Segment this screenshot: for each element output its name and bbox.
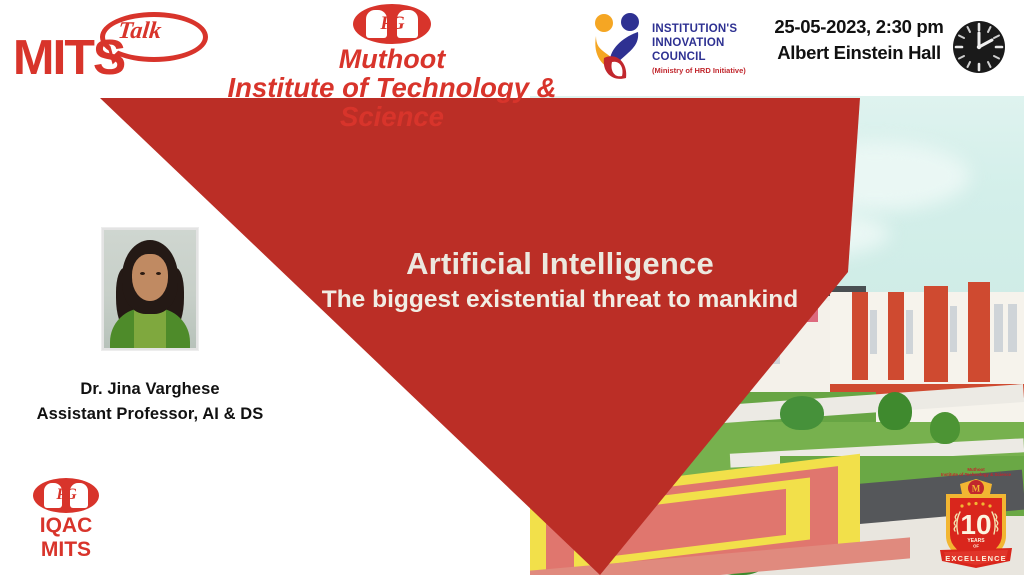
portrait-eye-right (156, 272, 161, 275)
window (656, 314, 682, 332)
speaker-designation: Assistant Professor, AI & DS (0, 405, 300, 424)
window (870, 310, 877, 354)
building-accent (968, 282, 990, 382)
svg-text:M: M (972, 484, 981, 494)
iic-line-2: INNOVATION (652, 36, 750, 50)
page-subtitle: The biggest existential threat to mankin… (300, 285, 820, 314)
svg-text:OF: OF (973, 544, 979, 549)
svg-text:10: 10 (960, 509, 991, 540)
iqac-pg-monogram-icon: PG (33, 478, 99, 513)
window (950, 306, 957, 352)
window (994, 304, 1003, 352)
presentation-poster: MITS Talk PG Muthoot Institute of Techno… (0, 0, 1024, 575)
talk-title-block: Artificial Intelligence The biggest exis… (300, 246, 820, 314)
ten-years-excellence-shield-icon: Muthoot Institute of Technology & Scienc… (930, 462, 1022, 572)
event-venue: Albert Einstein Hall (770, 40, 948, 66)
building-accent (924, 286, 948, 382)
cloud (780, 141, 970, 211)
iic-people-icon (590, 10, 652, 82)
muthoot-name: Muthoot (196, 46, 588, 73)
speaker-portrait (102, 228, 198, 350)
muthoot-tagline: Institute of Technology & Science (196, 74, 588, 132)
talk-wordmark: Talk (117, 18, 163, 45)
portrait-eye-left (140, 272, 145, 275)
iqac-label: IQAC (6, 515, 126, 537)
iic-line-1: INSTITUTION'S (652, 22, 750, 36)
pg-letters: PG (353, 13, 431, 35)
window (906, 310, 913, 354)
speaker-name: Dr. Jina Varghese (0, 380, 300, 399)
window (690, 348, 716, 368)
tree (878, 392, 912, 430)
window (772, 318, 780, 364)
window (690, 314, 716, 332)
basketball-hoop-pole (622, 464, 628, 506)
poster-header: MITS Talk PG Muthoot Institute of Techno… (0, 0, 1024, 96)
window (584, 346, 594, 366)
window (548, 346, 558, 366)
iic-text-block: INSTITUTION'S INNOVATION COUNCIL (Minist… (652, 22, 750, 75)
clock-icon (952, 20, 1006, 74)
window (566, 346, 576, 366)
window (758, 318, 766, 364)
page-title: Artificial Intelligence (300, 246, 820, 283)
portrait-face (132, 254, 168, 301)
window (566, 312, 576, 330)
iqac-pg-letters: PG (33, 486, 99, 504)
building-accent (888, 292, 904, 380)
backboard (608, 452, 640, 468)
tree (930, 412, 960, 444)
mits-talk-logo: MITS Talk (10, 8, 200, 86)
muthoot-institute-logo: PG Muthoot Institute of Technology & Sci… (196, 4, 588, 92)
iic-ministry-note: (Ministry of HRD Initiative) (652, 66, 750, 75)
shrub (780, 396, 824, 430)
svg-text:EXCELLENCE: EXCELLENCE (945, 554, 1006, 563)
iqac-mits-label: MITS (6, 539, 126, 561)
window (622, 348, 648, 368)
anniversary-badge: Muthoot Institute of Technology & Scienc… (930, 462, 1022, 572)
building-accent (852, 292, 868, 380)
muthoot-pg-monogram-icon: PG (353, 4, 431, 44)
event-datetime: 25-05-2023, 2:30 pm (770, 14, 948, 40)
iic-logo: INSTITUTION'S INNOVATION COUNCIL (Minist… (590, 8, 750, 88)
iic-line-3: COUNCIL (652, 50, 750, 64)
window (1008, 304, 1017, 352)
mits-wordmark: MITS (13, 30, 124, 86)
speaker-block: Dr. Jina Varghese Assistant Professor, A… (0, 228, 300, 424)
window (584, 312, 594, 330)
iqac-mits-logo: PG IQAC MITS (6, 478, 126, 561)
svg-text:Institute of Technology & Scie: Institute of Technology & Science (941, 472, 1012, 477)
portrait-garment-center (134, 310, 166, 348)
window (744, 318, 752, 364)
event-details: 25-05-2023, 2:30 pm Albert Einstein Hall (770, 14, 948, 65)
window (656, 348, 682, 368)
window (622, 314, 648, 332)
window (548, 312, 558, 330)
